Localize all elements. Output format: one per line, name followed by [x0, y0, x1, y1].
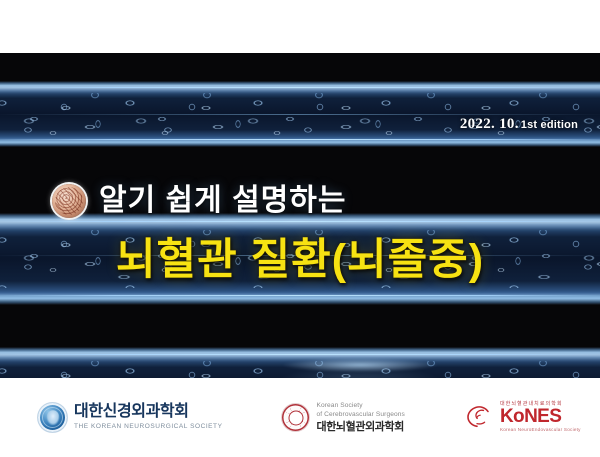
brain-circle-icon: [52, 184, 86, 218]
logo-english-line-1: Korean Society: [316, 401, 404, 411]
logo-english-name: Korean NeuroEndovascular Society: [500, 427, 581, 433]
vessel-edge-glow: [0, 139, 600, 140]
vessel-edge-glow: [0, 295, 600, 296]
brain-outline-icon: [463, 405, 493, 429]
logo-text-block: 대한뇌혈관내치료의학회 KoNES Korean NeuroEndovascul…: [500, 402, 581, 433]
vessel-edge-glow: [0, 221, 600, 222]
footer-logo-strip: 대한신경외과학회 THE KOREAN NEUROSURGICAL SOCIET…: [0, 378, 600, 457]
edition-date: 2022. 10.: [460, 116, 519, 132]
vessel-edge-glow: [0, 87, 600, 88]
cover-headline: 알기 쉽게 설명하는: [99, 186, 346, 216]
vessel-edge-glow: [0, 354, 600, 355]
logo-text-block: Korean Society of Cerebrovascular Surgeo…: [316, 401, 404, 435]
logo-korean-neurosurgical-society: 대한신경외과학회 THE KOREAN NEUROSURGICAL SOCIET…: [38, 403, 222, 432]
cover-artwork-panel: 2022. 10.1st edition 알기 쉽게 설명하는 뇌혈관 질환(뇌…: [0, 53, 600, 378]
radial-circle-emblem-icon: [282, 404, 309, 431]
logo-korean-society-of-cerebrovascular-surgeons: Korean Society of Cerebrovascular Surgeo…: [282, 401, 404, 435]
edition-label: 1st edition: [521, 119, 578, 131]
page-title: 뇌혈관 질환(뇌졸중): [0, 239, 600, 282]
vessel-band-lower-stenosis: [0, 347, 600, 378]
logo-wordmark: KoNES: [500, 408, 561, 426]
logo-korean-neuroendovascular-society: 대한뇌혈관내치료의학회 KoNES Korean NeuroEndovascul…: [463, 402, 581, 433]
globe-emblem-icon: [38, 403, 67, 432]
logo-korean-name: 대한뇌혈관외과학회: [316, 421, 404, 435]
logo-text-block: 대한신경외과학회 THE KOREAN NEUROSURGICAL SOCIET…: [74, 404, 222, 431]
logo-english-name: THE KOREAN NEUROSURGICAL SOCIETY: [74, 422, 222, 431]
logo-english-line-2: of Cerebrovascular Surgeons: [316, 410, 404, 420]
vessel-plaque-edge: [248, 357, 472, 373]
headline-row: 알기 쉽게 설명하는: [52, 184, 346, 218]
logo-korean-name: 대한신경외과학회: [74, 404, 222, 421]
edition-line: 2022. 10.1st edition: [460, 115, 578, 133]
book-cover: 2022. 10.1st edition 알기 쉽게 설명하는 뇌혈관 질환(뇌…: [0, 0, 600, 457]
vessel-band-top: [0, 81, 600, 147]
